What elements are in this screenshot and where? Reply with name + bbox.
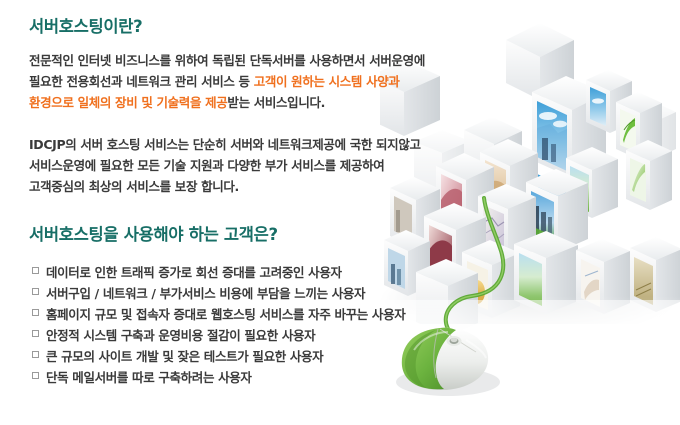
intro-paragraph-1: 전문적인 인터넷 비즈니스를 위하여 독립된 단독서버를 사용하면서 서버운영에… [29, 50, 425, 113]
list-item: 큰 규모의 사이트 개발 및 잦은 테스트가 필요한 사용자 [32, 346, 405, 367]
hollow-square-bullet-icon [32, 330, 39, 337]
list-item: 서버구입 / 네트워크 / 부가서비스 비용에 부담을 느끼는 사용자 [32, 283, 405, 304]
list-item-label: 안정적 시스템 구축과 운영비용 절감이 필요한 사용자 [46, 325, 315, 346]
list-item-label: 홈페이지 규모 및 접속자 증대로 웹호스팅 서비스를 자주 바꾸는 사용자 [46, 304, 405, 325]
paragraph-1-line-3: 환경으로 일체의 장비 및 기술력을 제공받는 서비스입니다. [29, 92, 425, 113]
paragraph-1-line-2: 필요한 전용회선과 네트워크 관리 서비스 등 고객이 원하는 시스템 사양과 [29, 71, 425, 92]
section-title-who-needs-server-hosting: 서버호스팅을 사용해야 하는 고객은? [29, 226, 278, 244]
list-item: 홈페이지 규모 및 접속자 증대로 웹호스팅 서비스를 자주 바꾸는 사용자 [32, 304, 405, 325]
paragraph-1-line-3-plain: 받는 서비스입니다. [227, 95, 325, 110]
hollow-square-bullet-icon [32, 267, 39, 274]
paragraph-1-line-3-highlight: 환경으로 일체의 장비 및 기술력을 제공 [29, 95, 227, 110]
intro-paragraph-2: IDCJP의 서버 호스팅 서비스는 단순히 서버와 네트워크제공에 국한 되지… [29, 134, 421, 197]
paragraph-1-line-2-plain: 필요한 전용회선과 네트워크 관리 서비스 등 [29, 74, 254, 89]
list-item: 안정적 시스템 구축과 운영비용 절감이 필요한 사용자 [32, 325, 405, 346]
list-item-label: 데이터로 인한 트래픽 증가로 회선 증대를 고려중인 사용자 [46, 262, 342, 283]
paragraph-2-line-3: 고객중심의 최상의 서비스를 보장 합니다. [29, 176, 421, 197]
paragraph-1-line-2-highlight: 고객이 원하는 시스템 사양과 [254, 74, 400, 89]
list-item-label: 서버구입 / 네트워크 / 부가서비스 비용에 부담을 느끼는 사용자 [46, 283, 365, 304]
paragraph-1-line-1: 전문적인 인터넷 비즈니스를 위하여 독립된 단독서버를 사용하면서 서버운영에 [29, 50, 425, 71]
target-customer-list: 데이터로 인한 트래픽 증가로 회선 증대를 고려중인 사용자 서버구입 / 네… [32, 262, 405, 388]
photo-cube-cluster-with-mouse-illustration [380, 0, 680, 425]
paragraph-2-line-1: IDCJP의 서버 호스팅 서비스는 단순히 서버와 네트워크제공에 국한 되지… [29, 134, 421, 155]
list-item-label: 큰 규모의 사이트 개발 및 잦은 테스트가 필요한 사용자 [46, 346, 323, 367]
list-item: 데이터로 인한 트래픽 증가로 회선 증대를 고려중인 사용자 [32, 262, 405, 283]
page-title-what-is-server-hosting: 서버호스팅이란? [29, 18, 142, 36]
page-root: 서버호스팅이란? 전문적인 인터넷 비즈니스를 위하여 독립된 단독서버를 사용… [0, 0, 680, 425]
hollow-square-bullet-icon [32, 288, 39, 295]
paragraph-2-line-2: 서비스운영에 필요한 모든 기술 지원과 다양한 부가 서비스를 제공하여 [29, 155, 421, 176]
hollow-square-bullet-icon [32, 309, 39, 316]
list-item: 단독 메일서버를 따로 구축하려는 사용자 [32, 367, 405, 388]
hollow-square-bullet-icon [32, 351, 39, 358]
list-item-label: 단독 메일서버를 따로 구축하려는 사용자 [46, 367, 252, 388]
hollow-square-bullet-icon [32, 372, 39, 379]
